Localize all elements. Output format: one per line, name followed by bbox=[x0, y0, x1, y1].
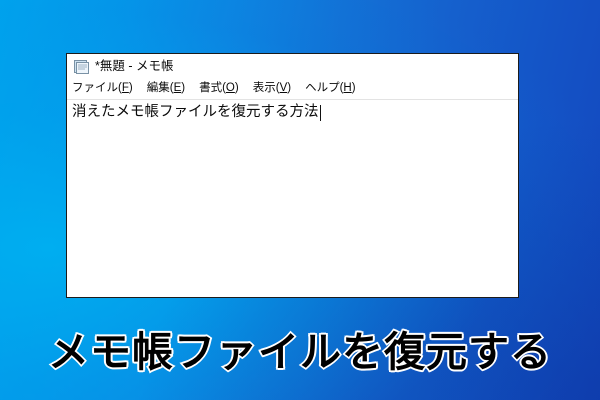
menu-item-edit[interactable]: 編集(E) bbox=[147, 83, 185, 95]
text-caret bbox=[320, 105, 321, 121]
caption-banner: メモ帳ファイルを復元する bbox=[0, 328, 600, 376]
menu-item-help[interactable]: ヘルプ(H) bbox=[305, 83, 356, 95]
window-title: *無題 - メモ帳 bbox=[95, 60, 173, 73]
menu-bar[interactable]: ファイル(F) 編集(E) 書式(O) 表示(V) ヘルプ(H) bbox=[67, 79, 518, 100]
window-titlebar[interactable]: *無題 - メモ帳 bbox=[67, 54, 518, 79]
caption-text: メモ帳ファイルを復元する bbox=[48, 329, 552, 375]
desktop-background: *無題 - メモ帳 ファイル(F) 編集(E) 書式(O) 表示(V) ヘルプ(… bbox=[0, 0, 600, 400]
editor-text: 消えたメモ帳ファイルを復元する方法 bbox=[72, 103, 319, 122]
notepad-window[interactable]: *無題 - メモ帳 ファイル(F) 編集(E) 書式(O) 表示(V) ヘルプ(… bbox=[66, 53, 519, 298]
editor-line[interactable]: 消えたメモ帳ファイルを復元する方法 bbox=[72, 103, 321, 122]
menu-item-view[interactable]: 表示(V) bbox=[253, 83, 291, 95]
menu-item-format[interactable]: 書式(O) bbox=[199, 83, 239, 95]
menu-item-file[interactable]: ファイル(F) bbox=[72, 83, 133, 95]
notepad-icon bbox=[73, 58, 90, 75]
text-editor-area[interactable]: 消えたメモ帳ファイルを復元する方法 bbox=[67, 100, 518, 297]
